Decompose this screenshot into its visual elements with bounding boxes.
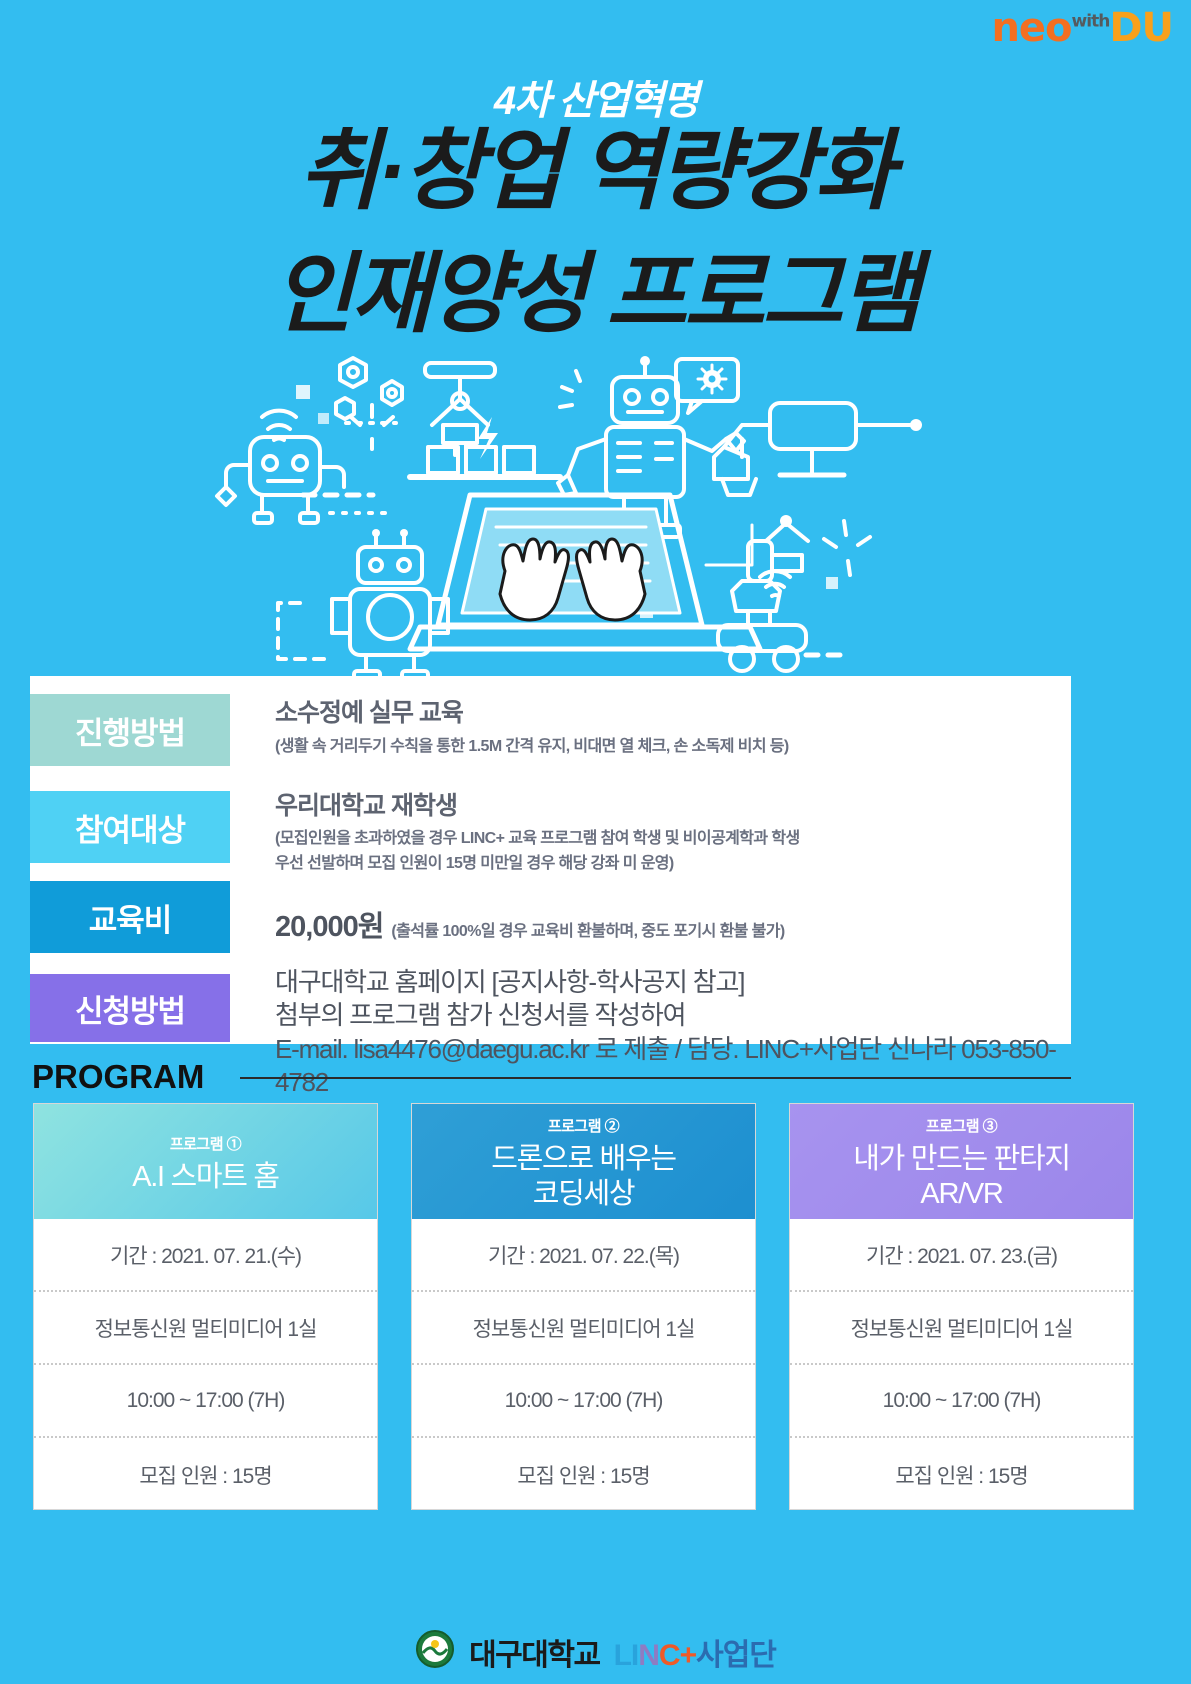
info-body-fee: 20,000원 (출석률 100%일 경우 교육비 환불하며, 중도 포기시 환… [275, 903, 1061, 945]
info-row-fee: 교육비 20,000원 (출석률 100%일 경우 교육비 환불하며, 중도 포… [30, 881, 1071, 961]
program-card-1-capacity: 모집 인원 : 15명 [34, 1438, 377, 1511]
apply-line-1: 대구대학교 홈페이지 [공지사항-학사공지 참고] [275, 966, 1061, 999]
footer-university-name: 대구대학교 [469, 1630, 600, 1674]
target-sub-text-1: (모집인원을 초과하였을 경우 LINC+ 교육 프로그램 참여 학생 및 비이… [275, 827, 1061, 852]
footer-linc-cplus: C+ [659, 1639, 696, 1672]
info-label-method: 진행방법 [30, 694, 230, 766]
program-card-2-capacity: 모집 인원 : 15명 [412, 1438, 755, 1511]
info-label-target: 참여대상 [30, 791, 230, 863]
program-card-3-time: 10:00 ~ 17:00 (7H) [790, 1365, 1133, 1438]
program-heading: PROGRAM [32, 1058, 204, 1096]
program-card-1-title: A.I 스마트 홈 [132, 1160, 279, 1195]
footer-linc-logo: LINC+사업단 [614, 1630, 776, 1674]
program-card-3-title-line2: AR/VR [920, 1177, 1002, 1212]
info-label-apply: 신청방법 [30, 974, 230, 1042]
logo-with-text: with [1072, 12, 1110, 32]
daegu-university-emblem-icon [415, 1629, 455, 1674]
program-card-3[interactable]: 프로그램 ③ 내가 만드는 판타지 AR/VR 기간 : 2021. 07. 2… [789, 1103, 1134, 1510]
info-row-method: 진행방법 소수정예 실무 교육 (생활 속 거리두기 수칙을 통한 1.5M 간… [30, 694, 1071, 774]
program-card-1-rows: 기간 : 2021. 07. 21.(수) 정보통신원 멀티미디어 1실 10:… [34, 1219, 377, 1511]
info-row-target: 참여대상 우리대학교 재학생 (모집인원을 초과하였을 경우 LINC+ 교육 … [30, 791, 1071, 887]
method-main-text: 소수정예 실무 교육 [275, 698, 1061, 729]
program-divider [240, 1077, 1071, 1079]
program-card-3-title-line1: 내가 만드는 판타지 [853, 1142, 1070, 1177]
target-sub-text-2: 우선 선발하며 모집 인원이 15명 미만일 경우 해당 강좌 미 운영) [275, 852, 1061, 877]
program-card-1-header: 프로그램 ① A.I 스마트 홈 [34, 1104, 377, 1219]
program-card-2-time: 10:00 ~ 17:00 (7H) [412, 1365, 755, 1438]
info-label-fee: 교육비 [30, 881, 230, 953]
program-card-1-period: 기간 : 2021. 07. 21.(수) [34, 1219, 377, 1292]
info-panel: 진행방법 소수정예 실무 교육 (생활 속 거리두기 수칙을 통한 1.5M 간… [30, 676, 1071, 1044]
program-card-2[interactable]: 프로그램 ② 드론으로 배우는 코딩세상 기간 : 2021. 07. 22.(… [411, 1103, 756, 1510]
poster-title-line1: 취·창업 역량강화 [0, 125, 1191, 217]
program-card-1-time: 10:00 ~ 17:00 (7H) [34, 1365, 377, 1438]
program-card-1-tag: 프로그램 ① [170, 1133, 241, 1154]
apply-line-2: 첨부의 프로그램 참가 신청서를 작성하여 [275, 999, 1061, 1032]
footer-linc-li: LI [614, 1639, 639, 1672]
program-card-2-location: 정보통신원 멀티미디어 1실 [412, 1292, 755, 1365]
info-body-apply: 대구대학교 홈페이지 [공지사항-학사공지 참고] 첨부의 프로그램 참가 신청… [275, 966, 1061, 1099]
program-card-3-header: 프로그램 ③ 내가 만드는 판타지 AR/VR [790, 1104, 1133, 1219]
program-card-2-rows: 기간 : 2021. 07. 22.(목) 정보통신원 멀티미디어 1실 10:… [412, 1219, 755, 1511]
apply-line-3: E-mail. lisa4476@daegu.ac.kr 로 제출 / 담당. … [275, 1033, 1061, 1100]
program-card-2-header: 프로그램 ② 드론으로 배우는 코딩세상 [412, 1104, 755, 1219]
poster-kicker: 4차 산업혁명 [0, 68, 1191, 126]
info-body-method: 소수정예 실무 교육 (생활 속 거리두기 수칙을 통한 1.5M 간격 유지,… [275, 698, 1061, 760]
program-card-2-period: 기간 : 2021. 07. 22.(목) [412, 1219, 755, 1292]
program-card-3-location: 정보통신원 멀티미디어 1실 [790, 1292, 1133, 1365]
footer: 대구대학교 LINC+사업단 [0, 1629, 1191, 1674]
method-sub-text: (생활 속 거리두기 수칙을 통한 1.5M 간격 유지, 비대면 열 체크, … [275, 735, 1061, 760]
program-card-2-title-line1: 드론으로 배우는 [491, 1142, 675, 1177]
info-body-target: 우리대학교 재학생 (모집인원을 초과하였을 경우 LINC+ 교육 프로그램 … [275, 791, 1061, 877]
program-card-1[interactable]: 프로그램 ① A.I 스마트 홈 기간 : 2021. 07. 21.(수) 정… [33, 1103, 378, 1510]
poster-title-line2: 인재양성 프로그램 [0, 248, 1191, 340]
program-card-1-location: 정보통신원 멀티미디어 1실 [34, 1292, 377, 1365]
logo-neo-text: neo [991, 5, 1071, 51]
program-card-3-tag: 프로그램 ③ [926, 1115, 997, 1136]
program-card-3-rows: 기간 : 2021. 07. 23.(금) 정보통신원 멀티미디어 1실 10:… [790, 1219, 1133, 1511]
program-card-2-title-line2: 코딩세상 [533, 1177, 635, 1212]
footer-linc-n: N [638, 1639, 659, 1672]
program-card-3-period: 기간 : 2021. 07. 23.(금) [790, 1219, 1133, 1292]
program-card-list: 프로그램 ① A.I 스마트 홈 기간 : 2021. 07. 21.(수) 정… [33, 1103, 1158, 1510]
program-card-2-tag: 프로그램 ② [548, 1115, 619, 1136]
robotics-illustration [0, 355, 1191, 685]
program-card-3-capacity: 모집 인원 : 15명 [790, 1438, 1133, 1511]
target-main-text: 우리대학교 재학생 [275, 791, 1061, 822]
neo-with-du-logo: neowithDU [991, 8, 1173, 48]
logo-du-text: DU [1109, 5, 1173, 51]
footer-linc-org: 사업단 [696, 1639, 776, 1672]
fee-note-text: (출석률 100%일 경우 교육비 환불하며, 중도 포기시 환불 불가) [391, 920, 784, 945]
fee-amount-text: 20,000원 [275, 903, 383, 945]
